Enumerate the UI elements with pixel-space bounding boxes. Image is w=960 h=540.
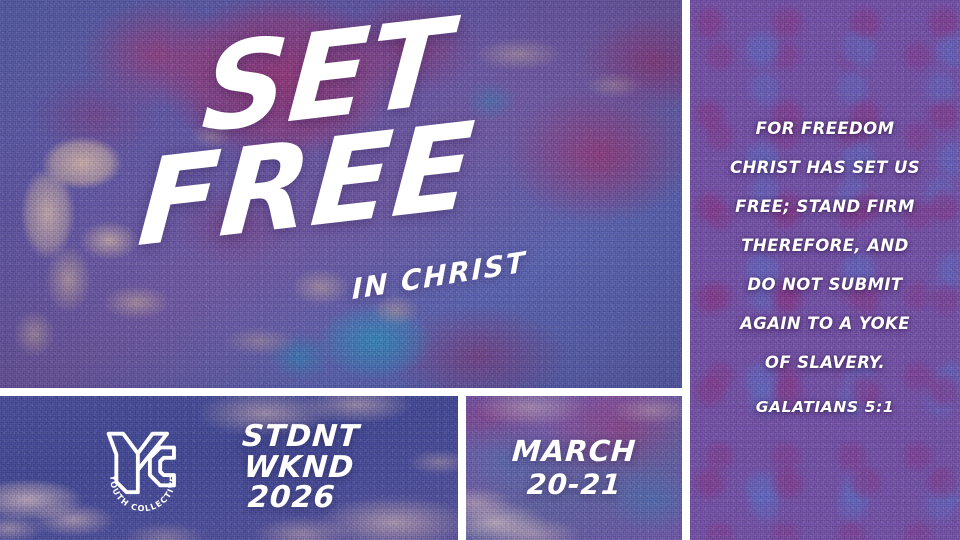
scripture-line: AGAIN TO A YOKE [706,305,944,344]
event-year: 2026 [237,483,357,514]
event-name-line-1: STDNT [241,422,361,453]
brand-content: YOUTH COLLECTIVE STDNT WKND 2026 [0,396,458,540]
date-days: 20-21 [526,470,623,500]
yc-monogram-icon: YOUTH COLLECTIVE [100,425,186,513]
scripture-line: FOR FREEDOM [706,110,944,149]
scripture-line: OF SLAVERY. [706,344,944,383]
event-name: STDNT WKND 2026 [237,422,361,514]
brand-panel: YOUTH COLLECTIVE STDNT WKND 2026 [0,396,458,540]
hero-panel: SET FREE IN CHRIST [0,0,682,388]
hero-title-line-2: FREE [135,112,478,258]
scripture-text: FOR FREEDOM CHRIST HAS SET US FREE; STAN… [690,110,960,425]
hero-subtitle: IN CHRIST [352,245,527,306]
scripture-line: FREE; STAND FIRM [706,188,944,227]
scripture-line: THEREFORE, AND [706,227,944,266]
hero-typography: SET FREE IN CHRIST [0,0,682,388]
scripture-panel: FOR FREEDOM CHRIST HAS SET US FREE; STAN… [690,0,960,540]
scripture-reference: GALATIANS 5:1 [706,389,944,426]
hero-title: SET FREE [135,4,486,258]
scripture-line: CHRIST HAS SET US [706,149,944,188]
date-month: MARCH [511,436,637,467]
poster-canvas: SET FREE IN CHRIST FOR FREEDOM CHRIST HA… [0,0,960,540]
logo-arc-text: YOUTH COLLECTIVE [109,474,178,513]
scripture-line: DO NOT SUBMIT [706,266,944,305]
date-content: MARCH 20-21 [466,396,682,540]
svg-text:YOUTH COLLECTIVE: YOUTH COLLECTIVE [109,474,178,513]
event-name-line-2: WKND [239,453,359,484]
date-panel: MARCH 20-21 [466,396,682,540]
